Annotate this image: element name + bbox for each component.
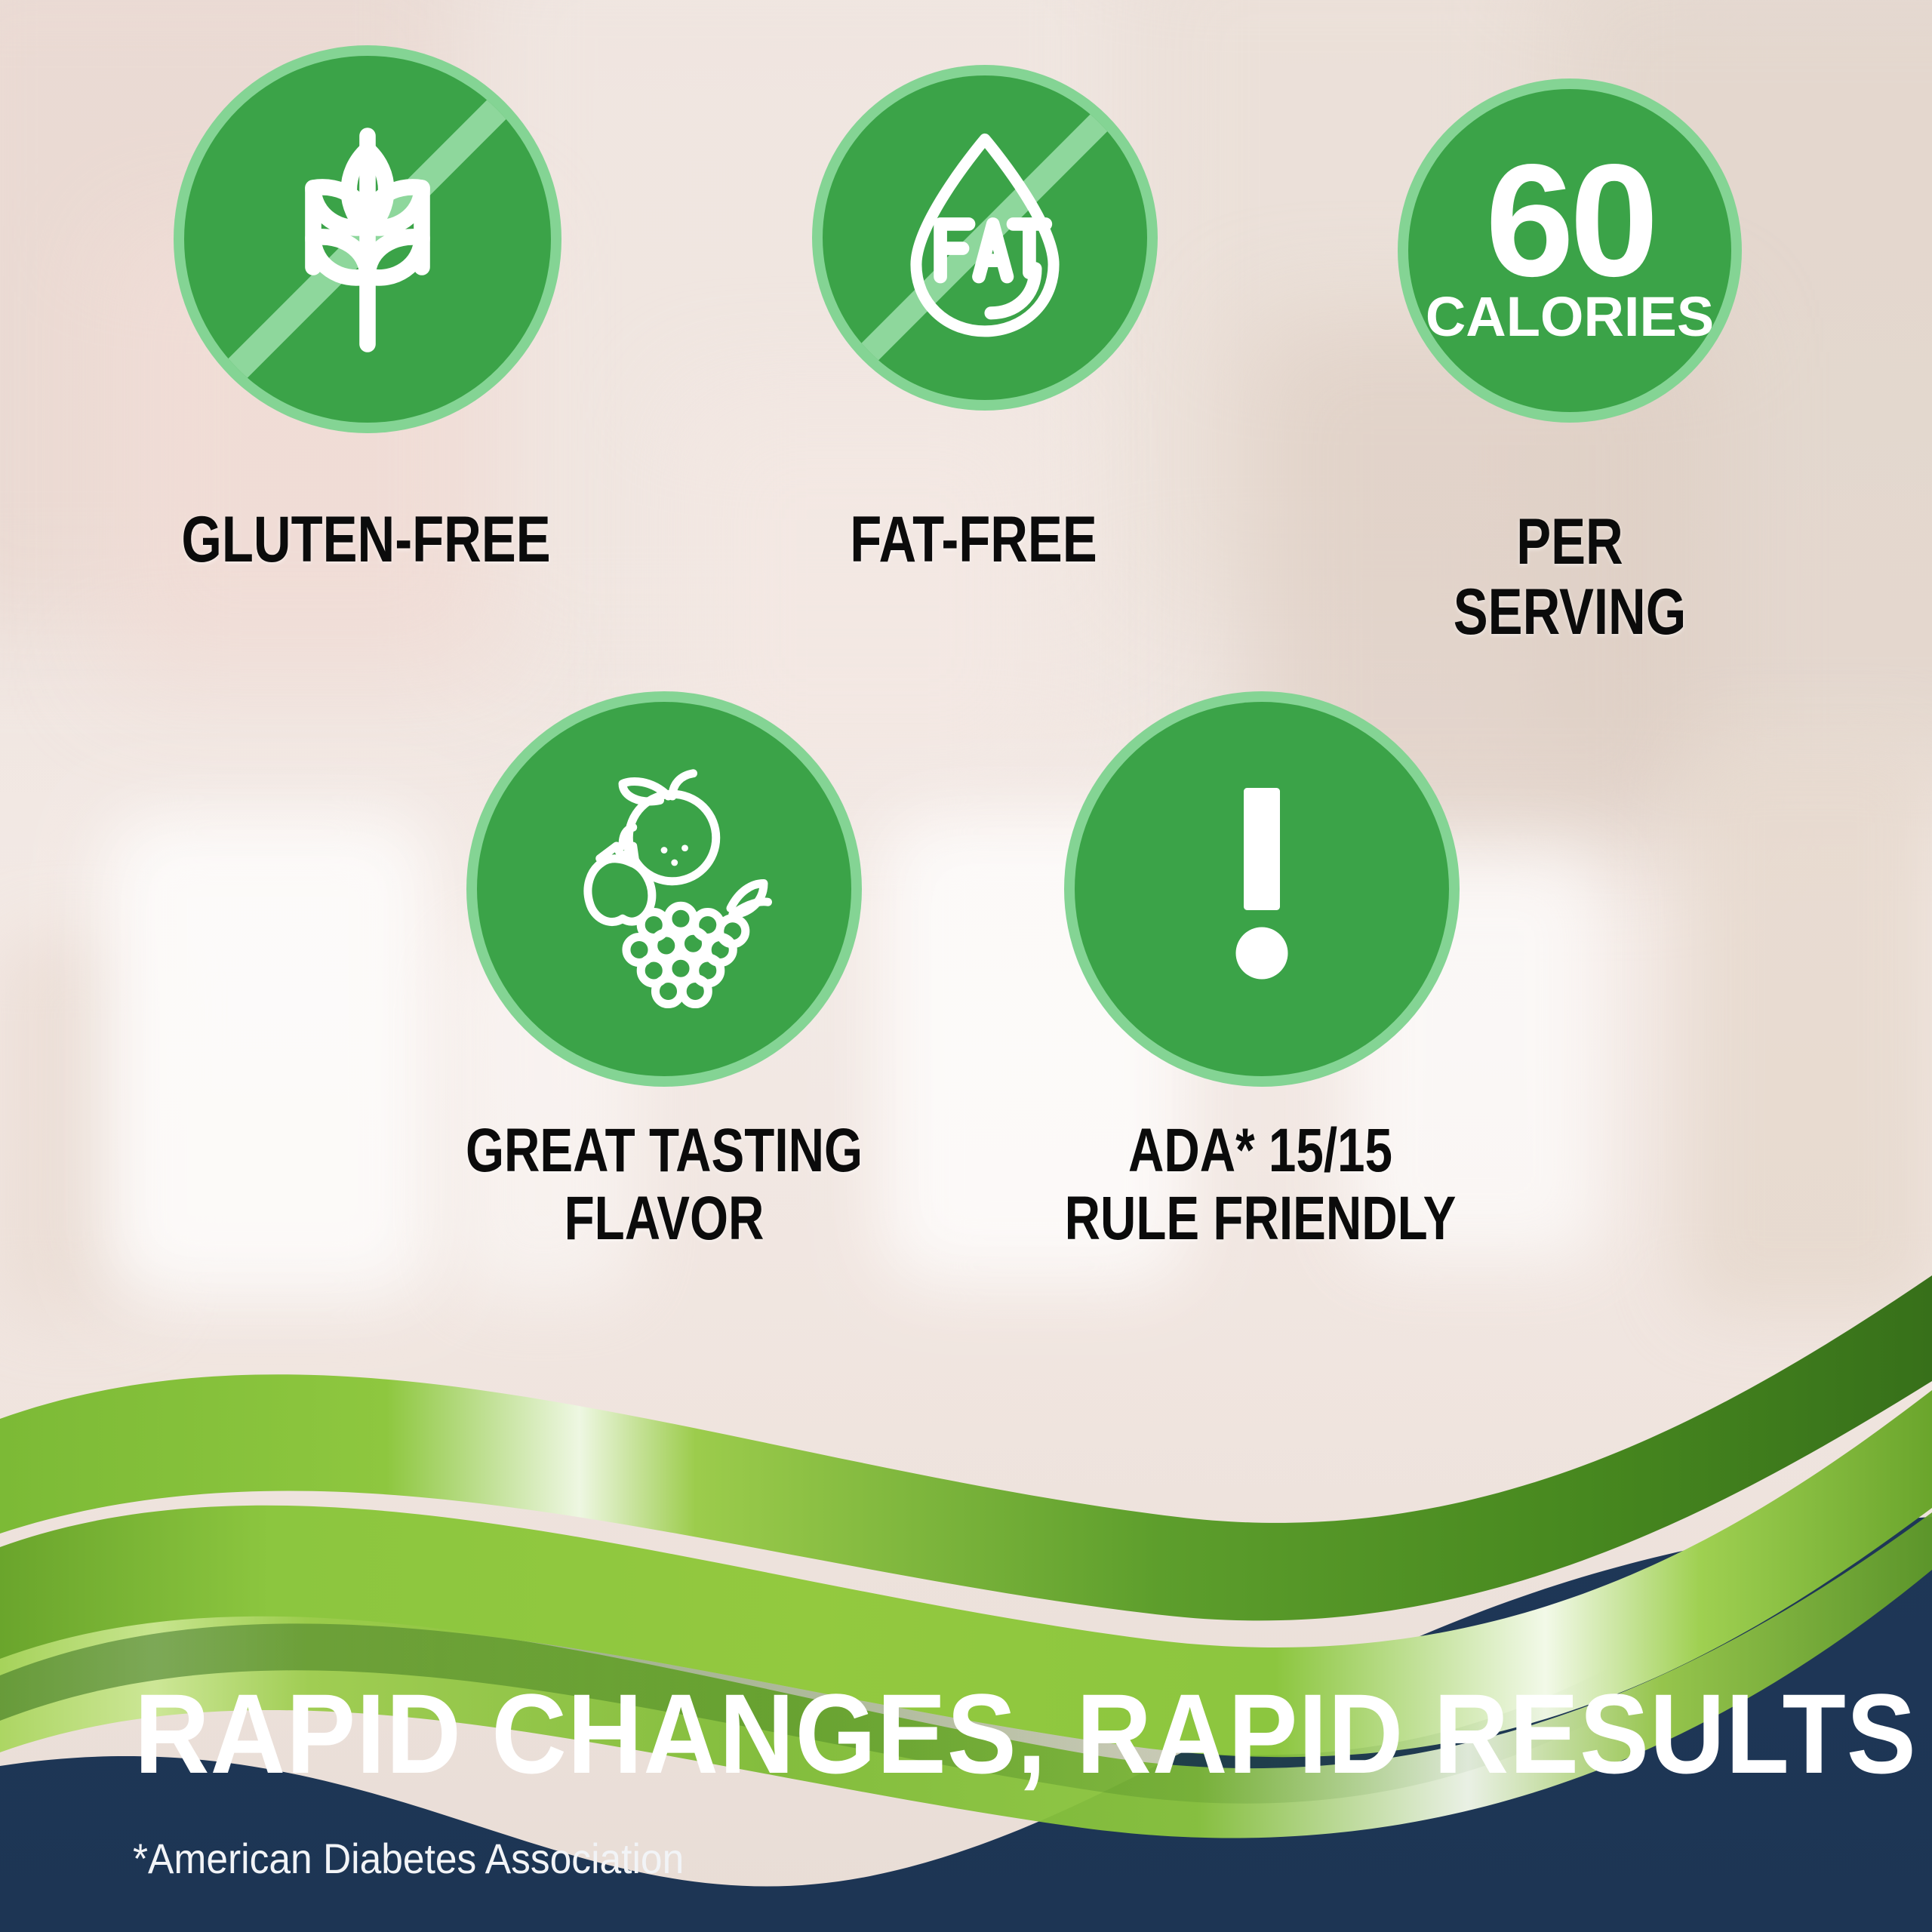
caption-fat-free: FAT-FREE <box>672 507 1275 574</box>
badge-ada-rule-friendly <box>1075 702 1449 1076</box>
droplet-icon <box>884 123 1086 353</box>
badge-calories: 60 CALORIES <box>1408 89 1731 412</box>
exclamation-mark-icon <box>1217 774 1307 1004</box>
calorie-number-block: 60 CALORIES <box>1426 156 1714 345</box>
badge-great-tasting-flavor <box>477 702 851 1076</box>
infographic-canvas: GLUTEN-FREE FAT-FREE <box>0 0 1932 1932</box>
footer-headline: RAPID CHANGES, RAPID RESULTS <box>134 1677 1917 1790</box>
green-ribbon-wave-divider <box>0 1192 1932 1932</box>
footer-footnote: *American Diabetes Association <box>133 1834 684 1883</box>
badge-fat-free <box>823 75 1147 400</box>
caption-per-serving: PER SERVING <box>1419 507 1721 648</box>
calorie-number: 60 <box>1485 156 1654 285</box>
wheat-stalk-icon <box>254 113 481 366</box>
caption-gluten-free: GLUTEN-FREE <box>73 507 659 574</box>
calorie-unit-label: CALORIES <box>1426 289 1714 345</box>
badge-gluten-free <box>184 56 551 423</box>
fruit-cluster-icon <box>540 763 789 1016</box>
